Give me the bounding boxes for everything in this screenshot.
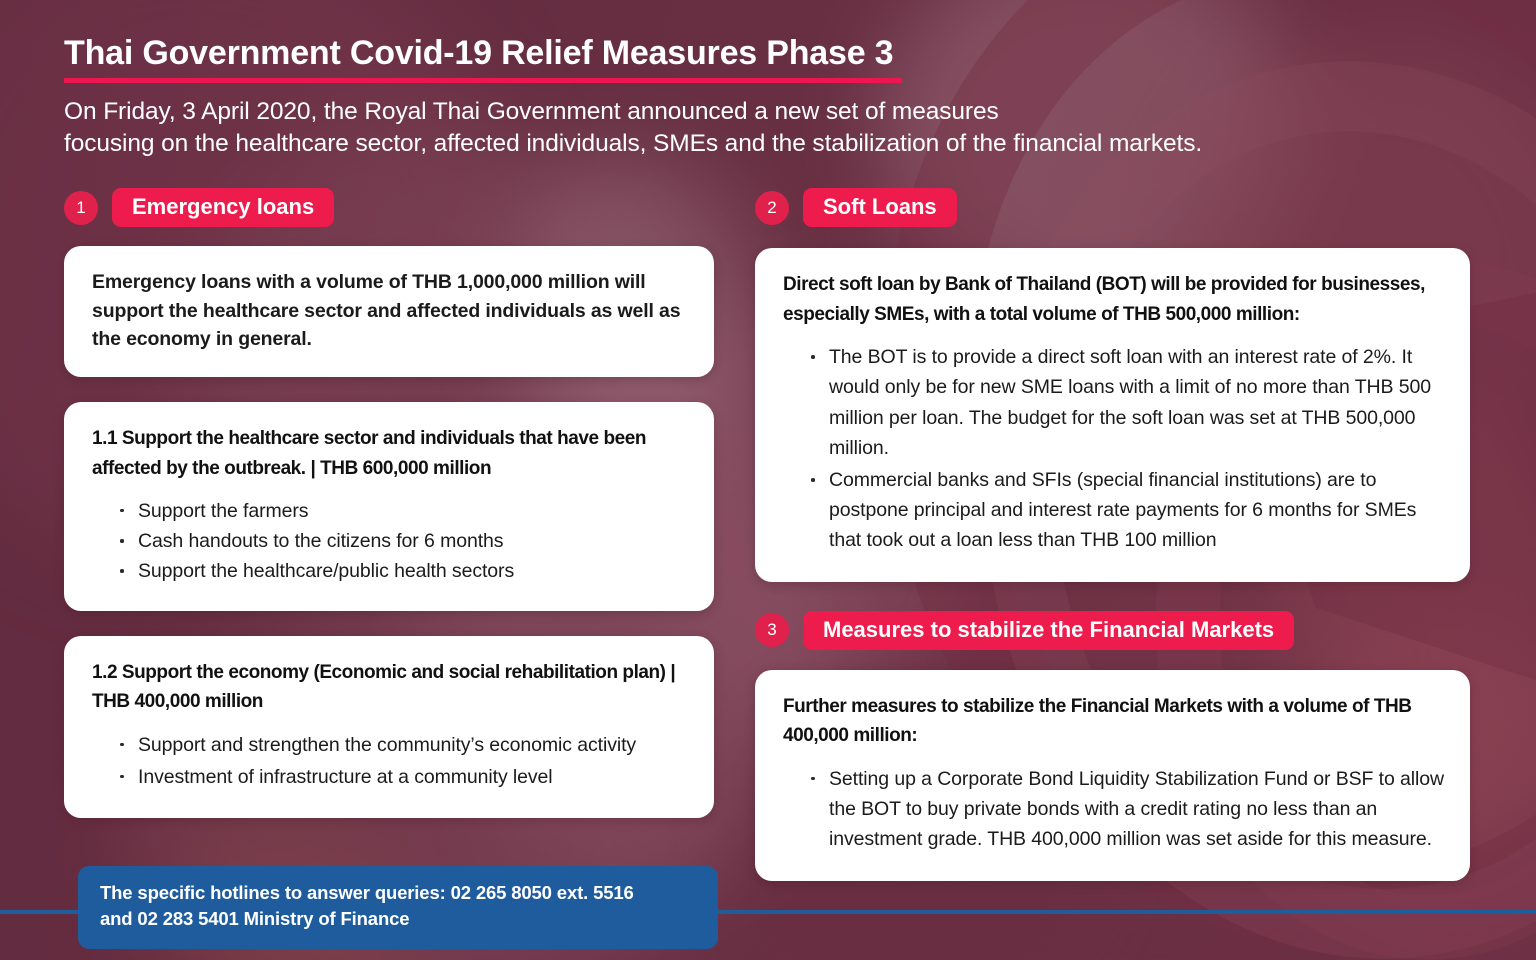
card-emergency-loans-overview: Emergency loans with a volume of THB 1,0…	[64, 246, 714, 377]
page-title: Thai Government Covid-19 Relief Measures…	[64, 34, 1484, 72]
section-number-badge-1: 1	[64, 191, 98, 225]
right-column: 2 Soft Loans Direct soft loan by Bank of…	[755, 188, 1470, 881]
page-subtitle-line-1: On Friday, 3 April 2020, the Royal Thai …	[64, 96, 1464, 128]
card-lead-text: Emergency loans with a volume of THB 1,0…	[92, 268, 688, 353]
list-item: The BOT is to provide a direct soft loan…	[809, 342, 1444, 463]
card-lead-text: Direct soft loan by Bank of Thailand (BO…	[783, 270, 1444, 329]
card-lead-text: Further measures to stabilize the Financ…	[783, 692, 1444, 751]
list-item: Setting up a Corporate Bond Liquidity St…	[809, 764, 1444, 855]
section-number-badge-3: 3	[755, 613, 789, 647]
left-column: 1 Emergency loans Emergency loans with a…	[64, 188, 714, 818]
hotline-line-1: The specific hotlines to answer queries:…	[100, 880, 696, 906]
list-item: Support and strengthen the community’s e…	[118, 730, 688, 760]
section-heading-3: 3 Measures to stabilize the Financial Ma…	[755, 611, 1470, 650]
hotline-banner: The specific hotlines to answer queries:…	[78, 866, 718, 949]
card-1-1-healthcare-support: 1.1 Support the healthcare sector and in…	[64, 402, 714, 611]
hotline-line-2: and 02 283 5401 Ministry of Finance	[100, 906, 696, 932]
list-item: Cash handouts to the citizens for 6 mont…	[118, 526, 688, 556]
page-subtitle-line-2: focusing on the healthcare sector, affec…	[64, 128, 1464, 160]
section-title-pill-3: Measures to stabilize the Financial Mark…	[803, 611, 1294, 650]
card-lead-text: 1.1 Support the healthcare sector and in…	[92, 424, 688, 483]
list-item: Investment of infrastructure at a commun…	[118, 762, 688, 792]
header: Thai Government Covid-19 Relief Measures…	[64, 34, 1484, 160]
card-1-2-economy-support: 1.2 Support the economy (Economic and so…	[64, 636, 714, 818]
section-number-badge-2: 2	[755, 191, 789, 225]
bullet-list: Support and strengthen the community’s e…	[92, 730, 688, 792]
list-item: Support the farmers	[118, 496, 688, 526]
section-title-pill-1: Emergency loans	[112, 188, 334, 227]
card-soft-loans: Direct soft loan by Bank of Thailand (BO…	[755, 248, 1470, 581]
card-financial-markets: Further measures to stabilize the Financ…	[755, 670, 1470, 881]
title-underline-rule	[64, 78, 902, 83]
bullet-list: Setting up a Corporate Bond Liquidity St…	[783, 764, 1444, 855]
section-title-pill-2: Soft Loans	[803, 188, 957, 227]
section-heading-2: 2 Soft Loans	[755, 188, 1470, 227]
list-item: Commercial banks and SFIs (special finan…	[809, 465, 1444, 556]
list-item: Support the healthcare/public health sec…	[118, 556, 688, 586]
page-subtitle: On Friday, 3 April 2020, the Royal Thai …	[64, 96, 1464, 160]
section-heading-1: 1 Emergency loans	[64, 188, 714, 227]
bullet-list: Support the farmers Cash handouts to the…	[92, 496, 688, 587]
card-lead-text: 1.2 Support the economy (Economic and so…	[92, 658, 688, 717]
bullet-list: The BOT is to provide a direct soft loan…	[783, 342, 1444, 556]
